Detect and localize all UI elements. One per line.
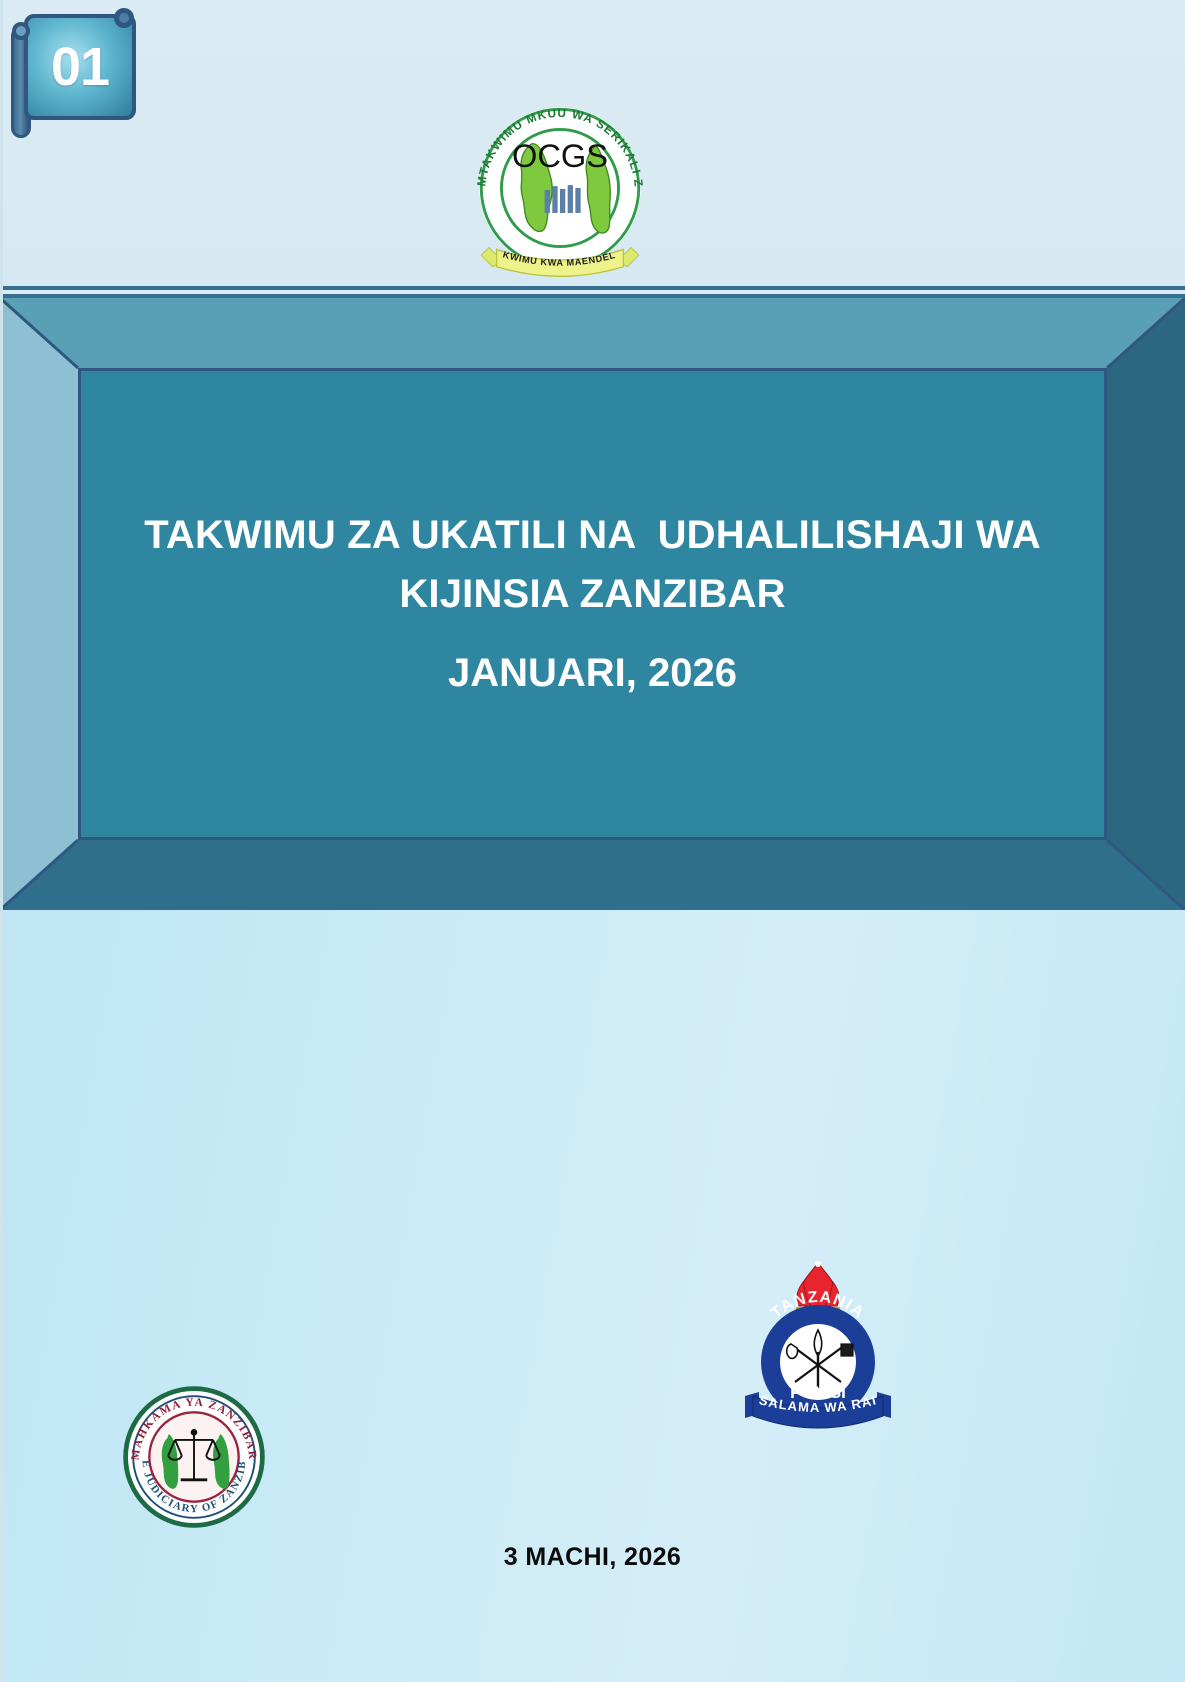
judiciary-of-zanzibar-seal: MAHKAMA YA ZANZIBAR THE JUDICIARY OF ZAN… [118,1381,270,1533]
page-edge [0,0,3,1682]
title-banner-frame: TAKWIMU ZA UKATILI NA UDHALILISHAJI WA K… [0,294,1185,906]
ocgs-logo-svg: OFISI YA MTAKWIMU MKUU WA SERIKALI ZANZI… [462,92,658,284]
page-number-badge: 01 [6,8,140,140]
publication-date: 3 MACHI, 2026 [0,1543,1185,1572]
ocgs-acronym-label: OCGS [512,137,608,174]
document-title-line-2: KIJINSIA ZANZIBAR [143,568,1043,621]
title-block: TAKWIMU ZA UKATILI NA UDHALILISHAJI WA K… [143,509,1043,699]
document-cover-page: 01 OFISI YA MTAKWIMU MKUU WA SERIKALI ZA… [0,0,1185,1682]
tanzania-police-logo: TANZANIA POLISI USALAMA WA RAIA [733,1252,903,1432]
badge-pin-icon [114,8,134,28]
badge-scroll-curl-icon [12,22,30,40]
document-period-label: JANUARI, 2026 [143,647,1043,699]
badge-number-label: 01 [51,40,109,94]
ocgs-logo: OFISI YA MTAKWIMU MKUU WA SERIKALI ZANZI… [462,92,658,284]
title-panel: TAKWIMU ZA UKATILI NA UDHALILISHAJI WA K… [78,368,1107,840]
document-title-line-1: TAKWIMU ZA UKATILI NA UDHALILISHAJI WA [143,509,1043,562]
police-logo-svg: TANZANIA POLISI USALAMA WA RAIA [733,1252,903,1432]
header-band: 01 OFISI YA MTAKWIMU MKUU WA SERIKALI ZA… [0,0,1185,290]
judiciary-seal-svg: MAHKAMA YA ZANZIBAR THE JUDICIARY OF ZAN… [118,1381,270,1533]
badge-body: 01 [24,14,136,120]
